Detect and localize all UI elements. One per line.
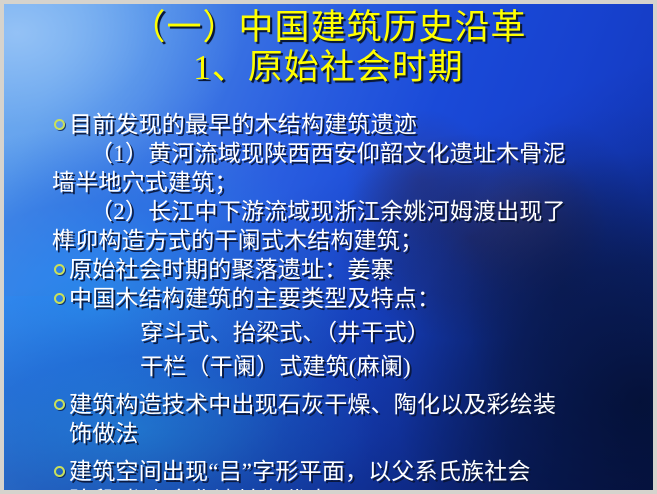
sub-line-text: 墙半地穴式建筑； [52, 168, 645, 197]
spacer [4, 381, 653, 390]
bullet-item: 中国木结构建筑的主要类型及特点： [4, 284, 653, 313]
presentation-slide: （一）中国建筑历史沿革 1、原始社会时期 目前发现的最早的木结构建筑遗迹 （1）… [4, 4, 653, 490]
hollow-circle-bullet-icon [54, 466, 65, 477]
slide-title: （一）中国建筑历史沿革 1、原始社会时期 [4, 8, 653, 88]
sub-line: （2）长江中下游流域现浙江余姚河姆渡出现了 [4, 197, 653, 226]
bullet-text-continued: 饰做法 [69, 419, 645, 448]
sub-line-text: 穿斗式、抬梁式、（井干式） [140, 318, 653, 347]
slide-content: （一）中国建筑历史沿革 1、原始社会时期 目前发现的最早的木结构建筑遗迹 （1）… [4, 4, 653, 490]
sub-line-text: （2）长江中下游流域现浙江余姚河姆渡出现了 [52, 197, 645, 226]
bullet-text: 原始社会时期的聚落遗址：姜寨 [69, 255, 645, 284]
bullet-text: 目前发现的最早的木结构建筑遗迹 [69, 110, 645, 139]
hollow-circle-bullet-icon [54, 399, 65, 410]
sub-line: 穿斗式、抬梁式、（井干式） [4, 318, 653, 347]
bullet-text: 建筑空间出现“吕”字形平面，以父系氏族社会 [69, 457, 645, 486]
sub-line: 干栏（干阑）式建筑(麻阑) [4, 352, 653, 381]
bullet-text-continued: 阶段 龙山文化遗址为代表 [69, 486, 645, 490]
sub-line-text: 榫卯构造方式的干阑式木结构建筑； [52, 226, 645, 255]
spacer [4, 448, 653, 457]
bullet-text: 建筑构造技术中出现石灰干燥、陶化以及彩绘装 [69, 390, 645, 419]
slide-title-line-2: 1、原始社会时期 [4, 48, 653, 88]
bullet-text: 中国木结构建筑的主要类型及特点： [69, 284, 645, 313]
slide-body: 目前发现的最早的木结构建筑遗迹 （1）黄河流域现陕西西安仰韶文化遗址木骨泥 墙半… [4, 110, 653, 490]
bullet-item: 目前发现的最早的木结构建筑遗迹 [4, 110, 653, 139]
sub-line-text: 干栏（干阑）式建筑(麻阑) [140, 352, 653, 381]
hollow-circle-bullet-icon [54, 264, 65, 275]
slide-title-line-1: （一）中国建筑历史沿革 [4, 8, 653, 48]
bullet-item: 建筑空间出现“吕”字形平面，以父系氏族社会 阶段 龙山文化遗址为代表 [4, 457, 653, 490]
sub-line-text: （1）黄河流域现陕西西安仰韶文化遗址木骨泥 [52, 139, 645, 168]
hollow-circle-bullet-icon [54, 293, 65, 304]
bullet-item: 原始社会时期的聚落遗址：姜寨 [4, 255, 653, 284]
sub-line: （1）黄河流域现陕西西安仰韶文化遗址木骨泥 [4, 139, 653, 168]
hollow-circle-bullet-icon [54, 119, 65, 130]
sub-line: 墙半地穴式建筑； [4, 168, 653, 197]
bullet-item: 建筑构造技术中出现石灰干燥、陶化以及彩绘装 饰做法 [4, 390, 653, 448]
sub-line: 榫卯构造方式的干阑式木结构建筑； [4, 226, 653, 255]
